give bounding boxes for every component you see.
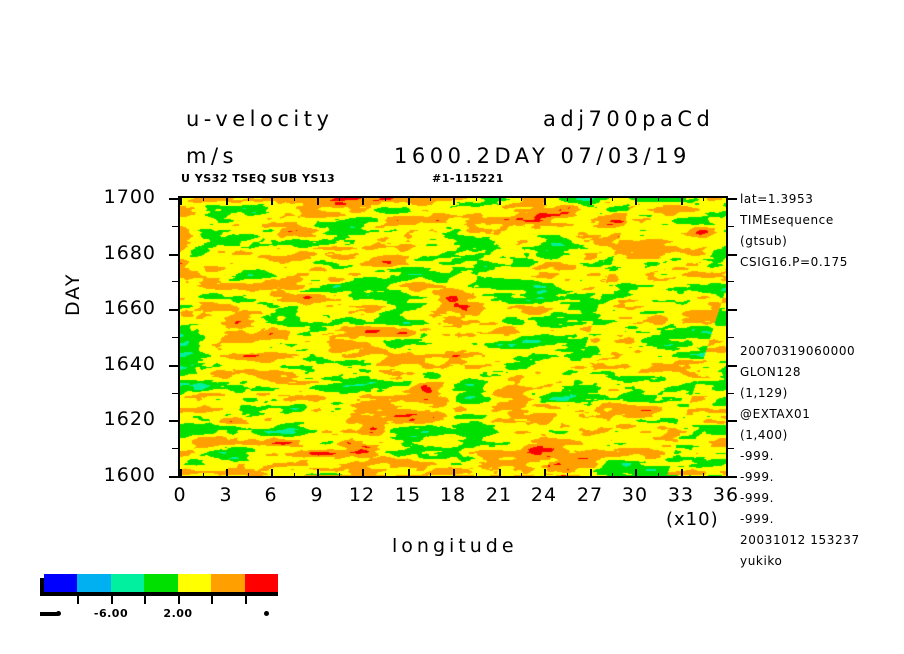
colorbar-tick: [144, 596, 146, 604]
colorbar-tick: [178, 596, 180, 604]
colorbar-tick: [211, 596, 213, 604]
colorbar-label: 2.00: [138, 607, 218, 620]
colorbar-extend-high-dot: [264, 611, 269, 616]
colorbar-tick-layer: -6.002.00: [0, 0, 904, 654]
colorbar-extend-low-dot: [56, 611, 61, 616]
colorbar-tick: [245, 596, 247, 604]
colorbar-tick: [111, 596, 113, 604]
colorbar-tick: [77, 596, 79, 604]
colorbar-baseline: [40, 592, 278, 596]
